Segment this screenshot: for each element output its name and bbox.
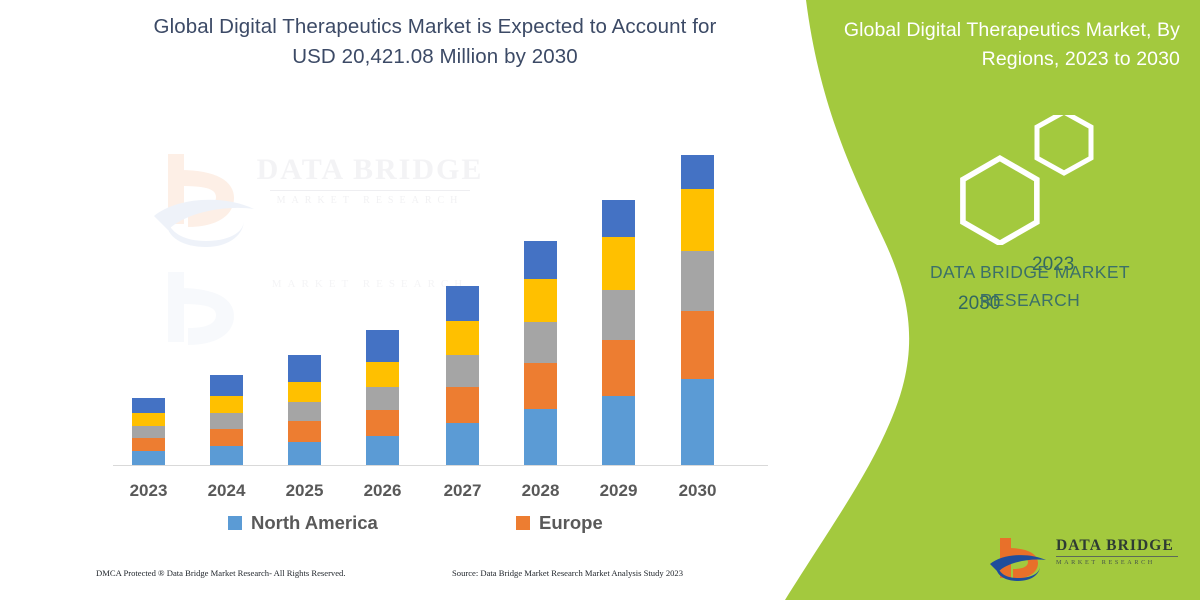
- bar-segment-2030-asia-pacific: [681, 251, 714, 311]
- x-axis-label-2026: 2026: [343, 481, 423, 501]
- bar-segment-2024-asia-pacific: [210, 413, 243, 429]
- footer: DMCA Protected ® Data Bridge Market Rese…: [0, 568, 800, 588]
- bar-segment-2029-europe: [602, 340, 635, 396]
- bar-segment-2026-europe: [366, 410, 399, 436]
- bar-segment-2029-middle-east-and-africa: [602, 200, 635, 237]
- bar-segment-2030-middle-east-and-africa: [681, 155, 714, 189]
- bar-2028[interactable]: [524, 241, 557, 465]
- bar-segment-2026-south-america: [366, 362, 399, 387]
- chart-baseline-axis: [113, 465, 768, 466]
- bar-segment-2023-europe: [132, 438, 165, 451]
- x-axis-label-2025: 2025: [265, 481, 345, 501]
- x-axis-label-2028: 2028: [501, 481, 581, 501]
- bar-segment-2029-north-america: [602, 396, 635, 465]
- logo-divider: [1056, 556, 1178, 557]
- bar-segment-2025-middle-east-and-africa: [288, 355, 321, 382]
- hexagon-2030-shape: [963, 158, 1037, 243]
- bar-2027[interactable]: [446, 286, 479, 465]
- bar-segment-2026-middle-east-and-africa: [366, 330, 399, 362]
- legend-swatch-north-america: [228, 516, 242, 530]
- bar-segment-2025-north-america: [288, 442, 321, 465]
- hexagon-2023-shape: [1037, 115, 1091, 173]
- logo-wordmark: DATA BRIDGE MARKET RESEARCH: [1056, 537, 1184, 566]
- panel-brand-text: DATA BRIDGE MARKET RESEARCH: [880, 258, 1180, 314]
- bar-segment-2027-europe: [446, 387, 479, 423]
- x-axis-label-2023: 2023: [109, 481, 189, 501]
- bar-2030[interactable]: [681, 155, 714, 465]
- bar-segment-2028-asia-pacific: [524, 322, 557, 363]
- x-axis-label-2029: 2029: [579, 481, 659, 501]
- panel-title: Global Digital Therapeutics Market, By R…: [820, 16, 1180, 74]
- panel-brand-line1: DATA BRIDGE MARKET: [880, 258, 1180, 286]
- hexagon-badges: 2030 2023: [925, 115, 1110, 245]
- x-axis-label-2030: 2030: [658, 481, 738, 501]
- bar-segment-2029-asia-pacific: [602, 290, 635, 340]
- bar-segment-2023-north-america: [132, 451, 165, 465]
- bar-2025[interactable]: [288, 355, 321, 465]
- footer-copyright: DMCA Protected ® Data Bridge Market Rese…: [96, 568, 346, 578]
- legend-swatch-europe: [516, 516, 530, 530]
- x-axis-label-2024: 2024: [187, 481, 267, 501]
- bar-segment-2028-south-america: [524, 279, 557, 322]
- legend-item-europe[interactable]: Europe: [516, 512, 603, 534]
- bar-segment-2028-north-america: [524, 409, 557, 465]
- panel-title-line1: Global Digital Therapeutics Market, By: [820, 16, 1180, 45]
- footer-source: Source: Data Bridge Market Research Mark…: [452, 568, 683, 578]
- bar-segment-2028-europe: [524, 363, 557, 409]
- bar-segment-2025-asia-pacific: [288, 402, 321, 421]
- bar-segment-2029-south-america: [602, 237, 635, 290]
- bar-segment-2028-middle-east-and-africa: [524, 241, 557, 279]
- bar-segment-2024-middle-east-and-africa: [210, 375, 243, 396]
- bar-segment-2025-south-america: [288, 382, 321, 402]
- legend-label-europe: Europe: [539, 512, 603, 534]
- bar-segment-2026-north-america: [366, 436, 399, 465]
- x-axis-label-2027: 2027: [423, 481, 503, 501]
- panel-brand-line2: RESEARCH: [880, 286, 1180, 314]
- legend-item-north-america[interactable]: North America: [228, 512, 378, 534]
- bar-segment-2030-north-america: [681, 379, 714, 465]
- bar-segment-2027-south-america: [446, 321, 479, 355]
- bar-segment-2024-europe: [210, 429, 243, 446]
- bar-2029[interactable]: [602, 200, 635, 465]
- legend-label-north-america: North America: [251, 512, 378, 534]
- bar-2026[interactable]: [366, 330, 399, 465]
- bar-segment-2027-north-america: [446, 423, 479, 465]
- bar-segment-2025-europe: [288, 421, 321, 442]
- stacked-bar-chart: 20232024202520262027202820292030: [0, 0, 800, 600]
- bar-segment-2030-europe: [681, 311, 714, 379]
- bar-segment-2027-asia-pacific: [446, 355, 479, 387]
- infographic-root: Global Digital Therapeutics Market, By R…: [0, 0, 1200, 600]
- bar-2024[interactable]: [210, 375, 243, 465]
- bar-segment-2026-asia-pacific: [366, 387, 399, 410]
- bar-segment-2024-north-america: [210, 446, 243, 465]
- bar-2023[interactable]: [132, 398, 165, 465]
- panel-title-line2: Regions, 2023 to 2030: [820, 45, 1180, 74]
- bar-segment-2023-south-america: [132, 413, 165, 426]
- bar-segment-2023-asia-pacific: [132, 426, 165, 438]
- bar-segment-2023-middle-east-and-africa: [132, 398, 165, 413]
- chart-legend: North America Europe: [228, 512, 658, 538]
- data-bridge-logo: DATA BRIDGE MARKET RESEARCH: [988, 534, 1184, 586]
- bar-segment-2027-middle-east-and-africa: [446, 286, 479, 321]
- logo-name-bottom: MARKET RESEARCH: [1056, 559, 1184, 566]
- logo-name-top: DATA BRIDGE: [1056, 537, 1184, 555]
- data-bridge-mark-icon: [988, 534, 1052, 584]
- bar-segment-2024-south-america: [210, 396, 243, 413]
- bar-segment-2030-south-america: [681, 189, 714, 251]
